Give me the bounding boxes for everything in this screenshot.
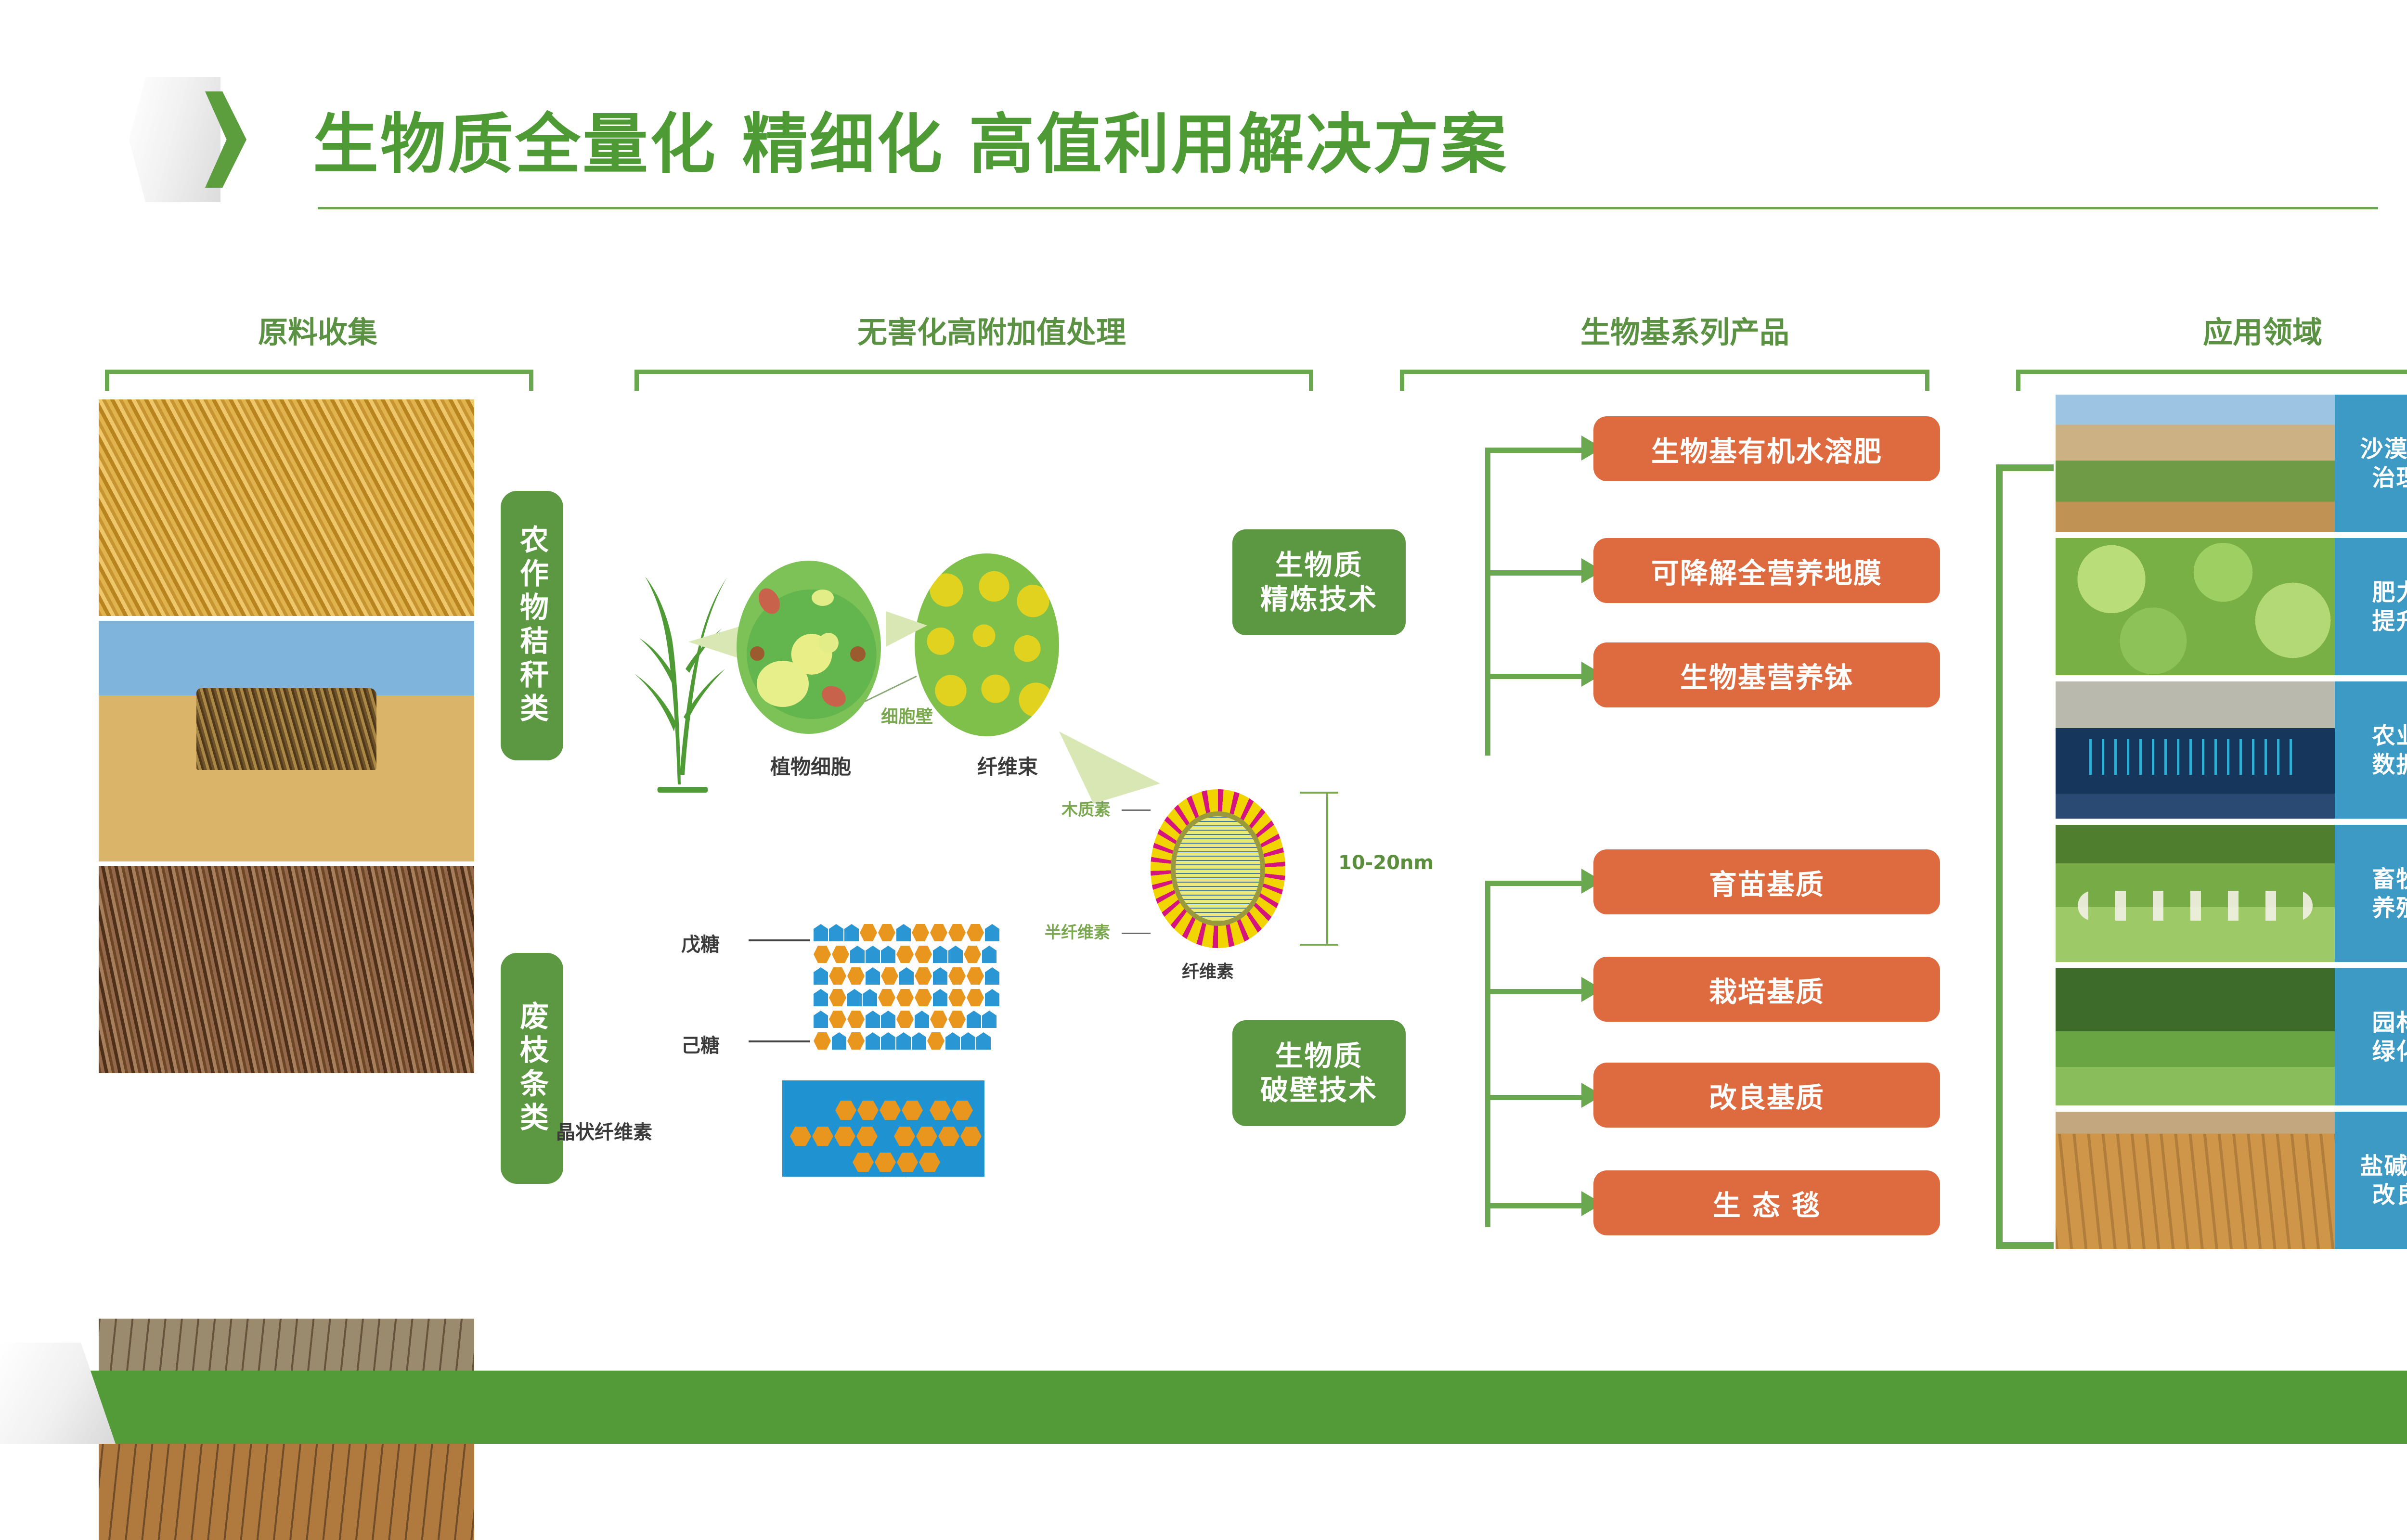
label-pentose: 戊糖: [681, 929, 720, 957]
sheep-grazing-photo: [2056, 825, 2335, 962]
application-row-saline[interactable]: 盐碱地 改良: [2056, 1112, 2407, 1249]
label-lignin: 木质素: [1061, 796, 1111, 820]
page-title: 生物质全量化 精细化 高值利用解决方案: [313, 91, 1508, 186]
footer-corner-wedge: [0, 1343, 116, 1444]
column-header-products: 生物基系列产品: [1435, 308, 1935, 351]
label-fiber-dimension: 10-20nm: [1338, 852, 1434, 874]
app-tag-line2: 绿化: [2372, 1037, 2407, 1066]
agriculture-data-room-photo: [2056, 681, 2335, 819]
crystalline-cellulose-diagram: [782, 1080, 984, 1177]
product-box-bio-nutrition-pot[interactable]: 生物基营养钵: [1593, 642, 1940, 707]
label-cellulose: 纤维素: [1182, 958, 1234, 983]
app-tag-line2: 养殖: [2372, 894, 2407, 923]
grass-plant-icon: [626, 525, 732, 794]
app-tag-line1: 盐碱地: [2360, 1152, 2407, 1181]
footer-green-bar: [87, 1371, 2407, 1444]
label-plant-cell: 植物细胞: [770, 751, 851, 780]
label-cell-wall: 细胞壁: [881, 703, 933, 728]
fiber-bundle-illustration: [915, 553, 1059, 736]
tech-box-breaking-line1: 生物质: [1275, 1039, 1363, 1073]
dry-branches-photo: [99, 866, 474, 1073]
connector-branch-breaking-1: [1485, 881, 1586, 886]
label-hexose: 己糖: [681, 1030, 720, 1058]
dim-tick-bottom: [1300, 944, 1338, 946]
bracket-products: [1400, 370, 1929, 391]
saline-alkali-land-photo: [2056, 1112, 2335, 1249]
application-row-fertility[interactable]: 肥力 提升: [2056, 538, 2407, 675]
column-header-applications: 应用领域: [2070, 308, 2407, 351]
app-tag-line1: 肥力: [2372, 578, 2407, 607]
product-box-improvement-substrate[interactable]: 改良基质: [1593, 1063, 1940, 1128]
granule-shape: [750, 646, 764, 661]
tech-box-breaking-line2: 破壁技术: [1260, 1073, 1378, 1107]
straw-bale-field-photo: [99, 621, 474, 861]
leader-line-lignin: [1122, 809, 1151, 811]
app-bracket-spine: [1996, 464, 2003, 1249]
application-row-livestock[interactable]: 畜牧 养殖: [2056, 825, 2407, 962]
leader-line-hexose: [749, 1040, 810, 1042]
title-divider: [318, 207, 2378, 209]
connector-branch-breaking-2: [1485, 989, 1586, 994]
zoom-cone-3: [1059, 731, 1160, 804]
label-hemicellulose: 半纤维素: [1045, 919, 1110, 943]
mitochondrion-shape: [754, 585, 784, 617]
product-box-cultivation-substrate[interactable]: 栽培基质: [1593, 957, 1940, 1022]
leader-line-pentose: [749, 939, 810, 941]
connector-branch-breaking-3: [1485, 1095, 1586, 1100]
hexagon-gray-shape: [129, 77, 220, 202]
label-fiber-bundle: 纤维束: [977, 751, 1038, 780]
landscape-greening-photo: [2056, 968, 2335, 1105]
sugar-chain-row-2: [814, 946, 997, 963]
application-tag-livestock[interactable]: 畜牧 养殖: [2335, 825, 2407, 962]
tech-box-refining-line2: 精炼技术: [1260, 582, 1378, 616]
product-box-water-soluble-fertilizer[interactable]: 生物基有机水溶肥: [1593, 416, 1940, 481]
vacuole-shape: [757, 661, 809, 707]
connector-branch-refining-2: [1485, 570, 1586, 576]
connector-branch-refining-3: [1485, 674, 1586, 679]
application-tag-saline[interactable]: 盐碱地 改良: [2335, 1112, 2407, 1249]
application-row-greening[interactable]: 园林 绿化: [2056, 968, 2407, 1105]
connector-branch-refining-1: [1485, 448, 1586, 453]
connector-branch-breaking-4: [1485, 1203, 1586, 1208]
app-tag-line2: 数据: [2372, 750, 2407, 779]
connector-trunk-breaking: [1485, 881, 1490, 1227]
chloroplast-shape-2: [818, 633, 839, 653]
app-tag-line1: 畜牧: [2372, 865, 2407, 894]
column-header-collection: 原料收集: [144, 308, 491, 351]
label-crystalline-cellulose: 晶状纤维素: [556, 1116, 652, 1144]
connector-trunk-refining: [1485, 448, 1490, 756]
sugar-chain-row-4: [814, 989, 1000, 1006]
app-tag-line2: 治理: [2372, 463, 2407, 492]
feedstock-label-crop-straw: 农作物秸秆类: [501, 491, 563, 760]
app-tag-line2: 改良: [2372, 1181, 2407, 1209]
app-bracket-top: [1996, 464, 2054, 471]
bracket-applications: [2016, 370, 2407, 391]
application-tag-greening[interactable]: 园林 绿化: [2335, 968, 2407, 1105]
tech-box-refining-line1: 生物质: [1275, 548, 1363, 582]
application-tag-agri-data[interactable]: 农业 数据: [2335, 681, 2407, 819]
tech-box-refining[interactable]: 生物质 精炼技术: [1232, 529, 1406, 635]
app-tag-line1: 园林: [2372, 1008, 2407, 1037]
granule-shape-2: [850, 646, 866, 662]
app-tag-line1: 农业: [2372, 721, 2407, 750]
application-row-agri-data[interactable]: 农业 数据: [2056, 681, 2407, 819]
dim-bar: [1326, 792, 1328, 946]
application-row-desert[interactable]: 沙漠化 治理: [2056, 395, 2407, 532]
column-header-processing: 无害化高附加值处理: [621, 308, 1362, 351]
app-bracket-bottom: [1996, 1242, 2054, 1249]
sugar-chain-row-6: [814, 1032, 992, 1050]
application-tag-fertility[interactable]: 肥力 提升: [2335, 538, 2407, 675]
fiber-cross-section-illustration: [1151, 789, 1285, 948]
app-tag-line2: 提升: [2372, 607, 2407, 636]
sugar-chain-row-5: [814, 1011, 997, 1028]
leader-line-hemicellulose: [1122, 933, 1151, 934]
header-hexagon-logo: [129, 77, 241, 202]
dim-tick-top: [1300, 792, 1338, 794]
corn-stalk-field-photo: [99, 399, 474, 616]
sugar-chain-row-1: [814, 924, 1000, 941]
tech-box-cell-wall-breaking[interactable]: 生物质 破壁技术: [1232, 1020, 1406, 1126]
bracket-processing: [634, 370, 1313, 391]
cellulose-core-shape: [1171, 811, 1265, 926]
product-box-ecological-blanket[interactable]: 生 态 毯: [1593, 1170, 1940, 1235]
app-tag-line1: 沙漠化: [2360, 435, 2407, 463]
mitochondrion-shape-2: [818, 682, 850, 711]
sugar-chain-row-3: [814, 967, 1000, 985]
chloroplast-shape: [812, 590, 834, 606]
feedstock-label-waste-branches: 废枝条类: [501, 953, 563, 1184]
desert-control-photo: [2056, 395, 2335, 532]
cabbage-field-photo: [2056, 538, 2335, 675]
product-box-seedling-substrate[interactable]: 育苗基质: [1593, 849, 1940, 914]
application-tag-desert[interactable]: 沙漠化 治理: [2335, 395, 2407, 532]
plant-cell-illustration: [737, 561, 881, 734]
bracket-collection: [105, 370, 533, 391]
product-box-biodegradable-mulch-film[interactable]: 可降解全营养地膜: [1593, 538, 1940, 603]
